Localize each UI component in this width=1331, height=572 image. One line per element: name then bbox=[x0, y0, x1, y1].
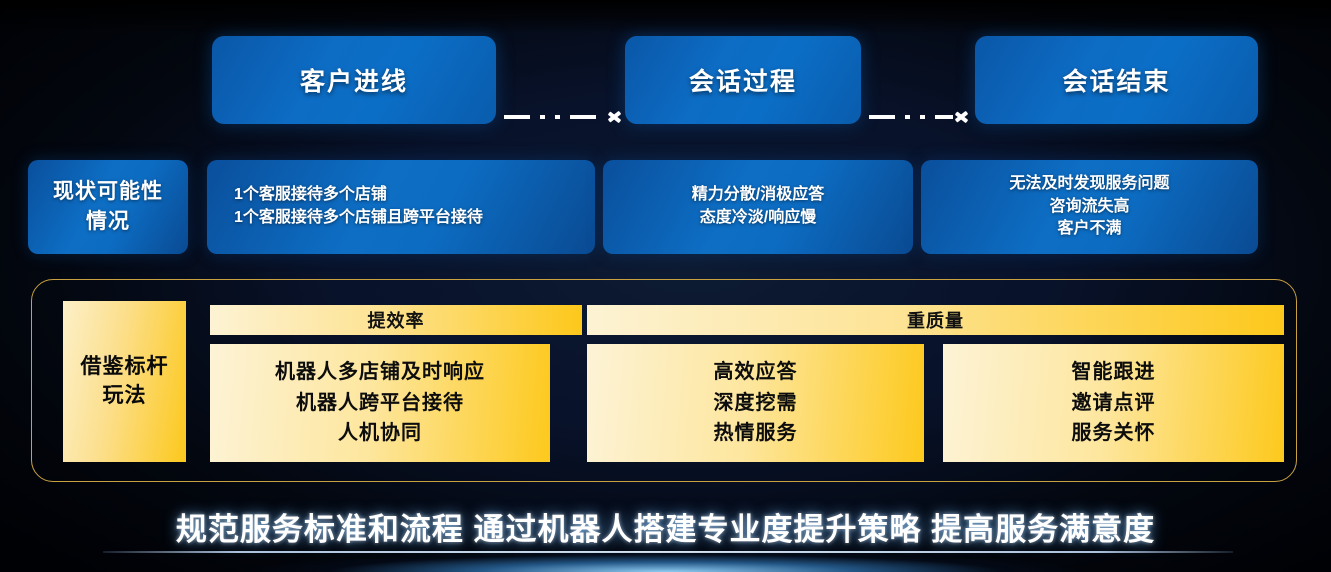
benchmark-card-efficiency[interactable]: 机器人多店铺及时响应 机器人跨平台接待 人机协同 bbox=[210, 344, 550, 462]
status-row-label: 现状可能性 情况 bbox=[28, 160, 188, 254]
benchmark-card-line: 机器人多店铺及时响应 bbox=[275, 357, 485, 387]
status-row-label-line-2: 情况 bbox=[86, 207, 130, 237]
benchmark-card-line: 高效应答 bbox=[714, 357, 798, 387]
stage-box-session-end[interactable]: 会话结束 bbox=[975, 36, 1258, 124]
status-cell-line: 客户不满 bbox=[1057, 218, 1121, 241]
status-cell-line: 态度冷淡/响应慢 bbox=[700, 207, 816, 230]
stage-label: 会话结束 bbox=[1062, 62, 1170, 98]
benchmark-card-line: 人机协同 bbox=[338, 418, 422, 448]
stage-box-session-process[interactable]: 会话过程 bbox=[625, 36, 861, 124]
slide-canvas: 客户进线 会话过程 会话结束 现状可能性 情况 1个客服接待多个店铺 1个客服接… bbox=[0, 0, 1331, 572]
footer-headline-text: 规范服务标准和流程 通过机器人搭建专业度提升策略 提高服务满意度 bbox=[176, 504, 1155, 549]
chevron-right-icon bbox=[956, 108, 969, 126]
dashed-line bbox=[504, 115, 606, 119]
benchmark-row-label-line-2: 玩法 bbox=[103, 382, 147, 411]
benchmark-card-line: 深度挖需 bbox=[714, 388, 798, 418]
benchmark-row-label: 借鉴标杆 玩法 bbox=[63, 301, 186, 462]
benchmark-card-line: 智能跟进 bbox=[1072, 357, 1156, 387]
benchmark-row-label-line-1: 借鉴标杆 bbox=[81, 353, 169, 382]
status-cell-line: 无法及时发现服务问题 bbox=[1009, 173, 1169, 196]
stage-connector-2 bbox=[869, 106, 969, 128]
chevron-right-icon bbox=[609, 108, 622, 126]
benchmark-card-quality-process[interactable]: 高效应答 深度挖需 热情服务 bbox=[587, 344, 924, 462]
benchmark-card-line: 服务关怀 bbox=[1072, 418, 1156, 448]
status-row-label-line-1: 现状可能性 bbox=[53, 177, 163, 207]
status-cell-end[interactable]: 无法及时发现服务问题 咨询流失高 客户不满 bbox=[921, 160, 1258, 254]
benchmark-header-label: 重质量 bbox=[907, 307, 964, 333]
status-cell-inbound[interactable]: 1个客服接待多个店铺 1个客服接待多个店铺且跨平台接待 bbox=[207, 160, 595, 254]
benchmark-card-line: 热情服务 bbox=[714, 418, 798, 448]
stage-box-customer-inbound[interactable]: 客户进线 bbox=[212, 36, 496, 124]
stage-label: 会话过程 bbox=[689, 62, 797, 98]
benchmark-card-line: 邀请点评 bbox=[1072, 388, 1156, 418]
benchmark-header-efficiency[interactable]: 提效率 bbox=[210, 305, 582, 335]
benchmark-card-quality-followup[interactable]: 智能跟进 邀请点评 服务关怀 bbox=[943, 344, 1284, 462]
bottom-glow-band bbox=[0, 552, 1331, 572]
stage-connector-1 bbox=[504, 106, 622, 128]
stage-label: 客户进线 bbox=[300, 62, 408, 98]
status-cell-line: 1个客服接待多个店铺 bbox=[234, 184, 387, 207]
status-cell-line: 1个客服接待多个店铺且跨平台接待 bbox=[234, 207, 483, 230]
status-row: 现状可能性 情况 1个客服接待多个店铺 1个客服接待多个店铺且跨平台接待 精力分… bbox=[0, 160, 1331, 254]
status-cell-line: 咨询流失高 bbox=[1049, 196, 1129, 219]
benchmark-card-line: 机器人跨平台接待 bbox=[296, 388, 464, 418]
benchmark-header-quality[interactable]: 重质量 bbox=[587, 305, 1284, 335]
dashed-line bbox=[869, 115, 953, 119]
stage-flow-row: 客户进线 会话过程 会话结束 bbox=[0, 36, 1331, 124]
benchmark-header-label: 提效率 bbox=[368, 307, 425, 333]
status-cell-process[interactable]: 精力分散/消极应答 态度冷淡/响应慢 bbox=[603, 160, 913, 254]
footer-headline: 规范服务标准和流程 通过机器人搭建专业度提升策略 提高服务满意度 bbox=[0, 504, 1331, 549]
status-cell-line: 精力分散/消极应答 bbox=[692, 184, 824, 207]
